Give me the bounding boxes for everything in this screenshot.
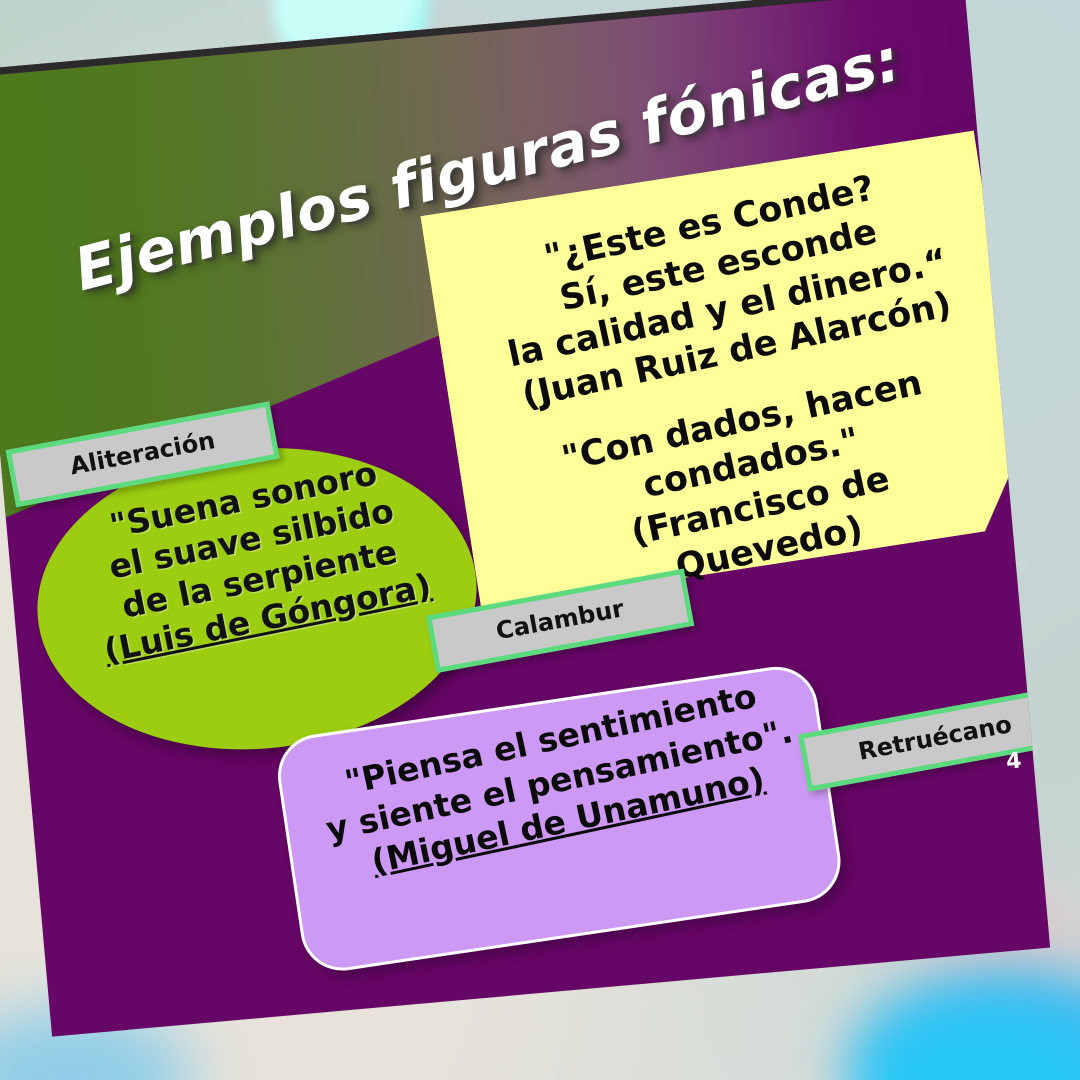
screenshot-stage: Ejemplos figuras fónicas: "Suena sonoro … — [0, 0, 1080, 1080]
presentation-slide[interactable]: Ejemplos figuras fónicas: "Suena sonoro … — [0, 0, 1050, 1037]
tag-retruecano[interactable]: Retruécano — [798, 686, 1050, 791]
slide-number: 4 — [1005, 748, 1022, 774]
